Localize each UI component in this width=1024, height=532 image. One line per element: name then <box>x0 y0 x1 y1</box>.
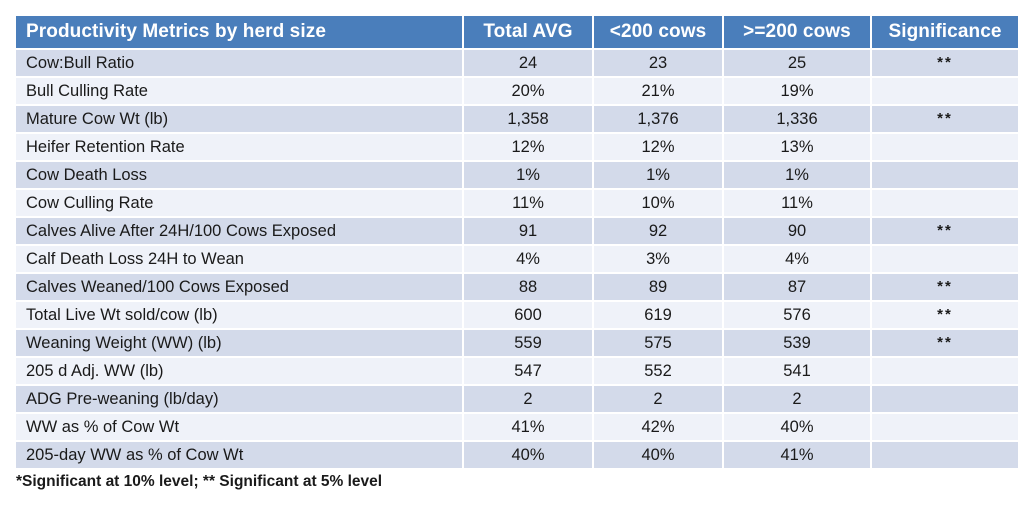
cell-ge-200-cows: 40% <box>724 414 870 440</box>
cell-total-avg: 547 <box>464 358 592 384</box>
cell-significance <box>872 190 1018 216</box>
cell-ge-200-cows: 4% <box>724 246 870 272</box>
cell-total-avg: 1,358 <box>464 106 592 132</box>
cell-lt-200-cows: 619 <box>594 302 722 328</box>
cell-total-avg: 20% <box>464 78 592 104</box>
row-metric-label: Cow Death Loss <box>16 162 462 188</box>
cell-total-avg: 88 <box>464 274 592 300</box>
cell-significance <box>872 414 1018 440</box>
cell-lt-200-cows: 1% <box>594 162 722 188</box>
cell-ge-200-cows: 1% <box>724 162 870 188</box>
cell-lt-200-cows: 552 <box>594 358 722 384</box>
cell-ge-200-cows: 41% <box>724 442 870 468</box>
cell-total-avg: 11% <box>464 190 592 216</box>
cell-ge-200-cows: 539 <box>724 330 870 356</box>
cell-total-avg: 41% <box>464 414 592 440</box>
cell-significance: ** <box>872 274 1018 300</box>
cell-significance: ** <box>872 50 1018 76</box>
column-header-ge-200-cows: >=200 cows <box>724 16 870 48</box>
cell-significance <box>872 162 1018 188</box>
row-metric-label: Total Live Wt sold/cow (lb) <box>16 302 462 328</box>
row-metric-label: Mature Cow Wt (lb) <box>16 106 462 132</box>
cell-ge-200-cows: 19% <box>724 78 870 104</box>
table-row: Weaning Weight (WW) (lb)559575539** <box>16 330 1018 356</box>
cell-significance <box>872 134 1018 160</box>
table-row: WW as % of Cow Wt41%42%40% <box>16 414 1018 440</box>
cell-lt-200-cows: 1,376 <box>594 106 722 132</box>
cell-ge-200-cows: 576 <box>724 302 870 328</box>
row-metric-label: 205-day WW as % of Cow Wt <box>16 442 462 468</box>
table-row: Bull Culling Rate20%21%19% <box>16 78 1018 104</box>
table-row: Mature Cow Wt (lb)1,3581,3761,336** <box>16 106 1018 132</box>
cell-significance <box>872 78 1018 104</box>
table-row: Calves Alive After 24H/100 Cows Exposed9… <box>16 218 1018 244</box>
cell-lt-200-cows: 3% <box>594 246 722 272</box>
cell-ge-200-cows: 1,336 <box>724 106 870 132</box>
cell-lt-200-cows: 2 <box>594 386 722 412</box>
row-metric-label: WW as % of Cow Wt <box>16 414 462 440</box>
cell-lt-200-cows: 40% <box>594 442 722 468</box>
cell-significance <box>872 442 1018 468</box>
table-row: Calf Death Loss 24H to Wean4%3%4% <box>16 246 1018 272</box>
cell-total-avg: 600 <box>464 302 592 328</box>
cell-ge-200-cows: 90 <box>724 218 870 244</box>
cell-significance <box>872 246 1018 272</box>
table-row: Calves Weaned/100 Cows Exposed888987** <box>16 274 1018 300</box>
table-row: Cow:Bull Ratio242325** <box>16 50 1018 76</box>
cell-total-avg: 24 <box>464 50 592 76</box>
cell-significance <box>872 386 1018 412</box>
cell-ge-200-cows: 13% <box>724 134 870 160</box>
cell-lt-200-cows: 10% <box>594 190 722 216</box>
cell-total-avg: 91 <box>464 218 592 244</box>
table-row: 205 d Adj. WW (lb)547552541 <box>16 358 1018 384</box>
cell-significance: ** <box>872 330 1018 356</box>
cell-significance: ** <box>872 302 1018 328</box>
column-header-significance: Significance <box>872 16 1018 48</box>
productivity-metrics-table: Productivity Metrics by herd size Total … <box>14 14 1020 470</box>
cell-total-avg: 559 <box>464 330 592 356</box>
cell-total-avg: 40% <box>464 442 592 468</box>
cell-ge-200-cows: 25 <box>724 50 870 76</box>
cell-lt-200-cows: 89 <box>594 274 722 300</box>
row-metric-label: Calves Weaned/100 Cows Exposed <box>16 274 462 300</box>
cell-lt-200-cows: 92 <box>594 218 722 244</box>
table-header: Productivity Metrics by herd size Total … <box>16 16 1018 48</box>
cell-significance <box>872 358 1018 384</box>
row-metric-label: Calves Alive After 24H/100 Cows Exposed <box>16 218 462 244</box>
cell-ge-200-cows: 11% <box>724 190 870 216</box>
row-metric-label: ADG Pre-weaning (lb/day) <box>16 386 462 412</box>
significance-footnote: *Significant at 10% level; ** Significan… <box>14 473 1010 491</box>
cell-lt-200-cows: 575 <box>594 330 722 356</box>
row-metric-label: 205 d Adj. WW (lb) <box>16 358 462 384</box>
row-metric-label: Weaning Weight (WW) (lb) <box>16 330 462 356</box>
cell-lt-200-cows: 12% <box>594 134 722 160</box>
cell-lt-200-cows: 23 <box>594 50 722 76</box>
table-header-row: Productivity Metrics by herd size Total … <box>16 16 1018 48</box>
column-header-total-avg: Total AVG <box>464 16 592 48</box>
cell-total-avg: 1% <box>464 162 592 188</box>
row-metric-label: Cow:Bull Ratio <box>16 50 462 76</box>
table-row: ADG Pre-weaning (lb/day)222 <box>16 386 1018 412</box>
table-row: Total Live Wt sold/cow (lb)600619576** <box>16 302 1018 328</box>
cell-significance: ** <box>872 218 1018 244</box>
cell-ge-200-cows: 87 <box>724 274 870 300</box>
table-page: Productivity Metrics by herd size Total … <box>0 0 1024 532</box>
column-header-metric: Productivity Metrics by herd size <box>16 16 462 48</box>
cell-lt-200-cows: 21% <box>594 78 722 104</box>
cell-ge-200-cows: 2 <box>724 386 870 412</box>
row-metric-label: Heifer Retention Rate <box>16 134 462 160</box>
cell-total-avg: 2 <box>464 386 592 412</box>
cell-lt-200-cows: 42% <box>594 414 722 440</box>
row-metric-label: Calf Death Loss 24H to Wean <box>16 246 462 272</box>
table-row: 205-day WW as % of Cow Wt40%40%41% <box>16 442 1018 468</box>
cell-total-avg: 12% <box>464 134 592 160</box>
table-row: Cow Culling Rate11%10%11% <box>16 190 1018 216</box>
cell-total-avg: 4% <box>464 246 592 272</box>
row-metric-label: Bull Culling Rate <box>16 78 462 104</box>
row-metric-label: Cow Culling Rate <box>16 190 462 216</box>
column-header-lt-200-cows: <200 cows <box>594 16 722 48</box>
table-row: Cow Death Loss1%1%1% <box>16 162 1018 188</box>
cell-ge-200-cows: 541 <box>724 358 870 384</box>
table-row: Heifer Retention Rate12%12%13% <box>16 134 1018 160</box>
cell-significance: ** <box>872 106 1018 132</box>
table-body: Cow:Bull Ratio242325**Bull Culling Rate2… <box>16 50 1018 468</box>
